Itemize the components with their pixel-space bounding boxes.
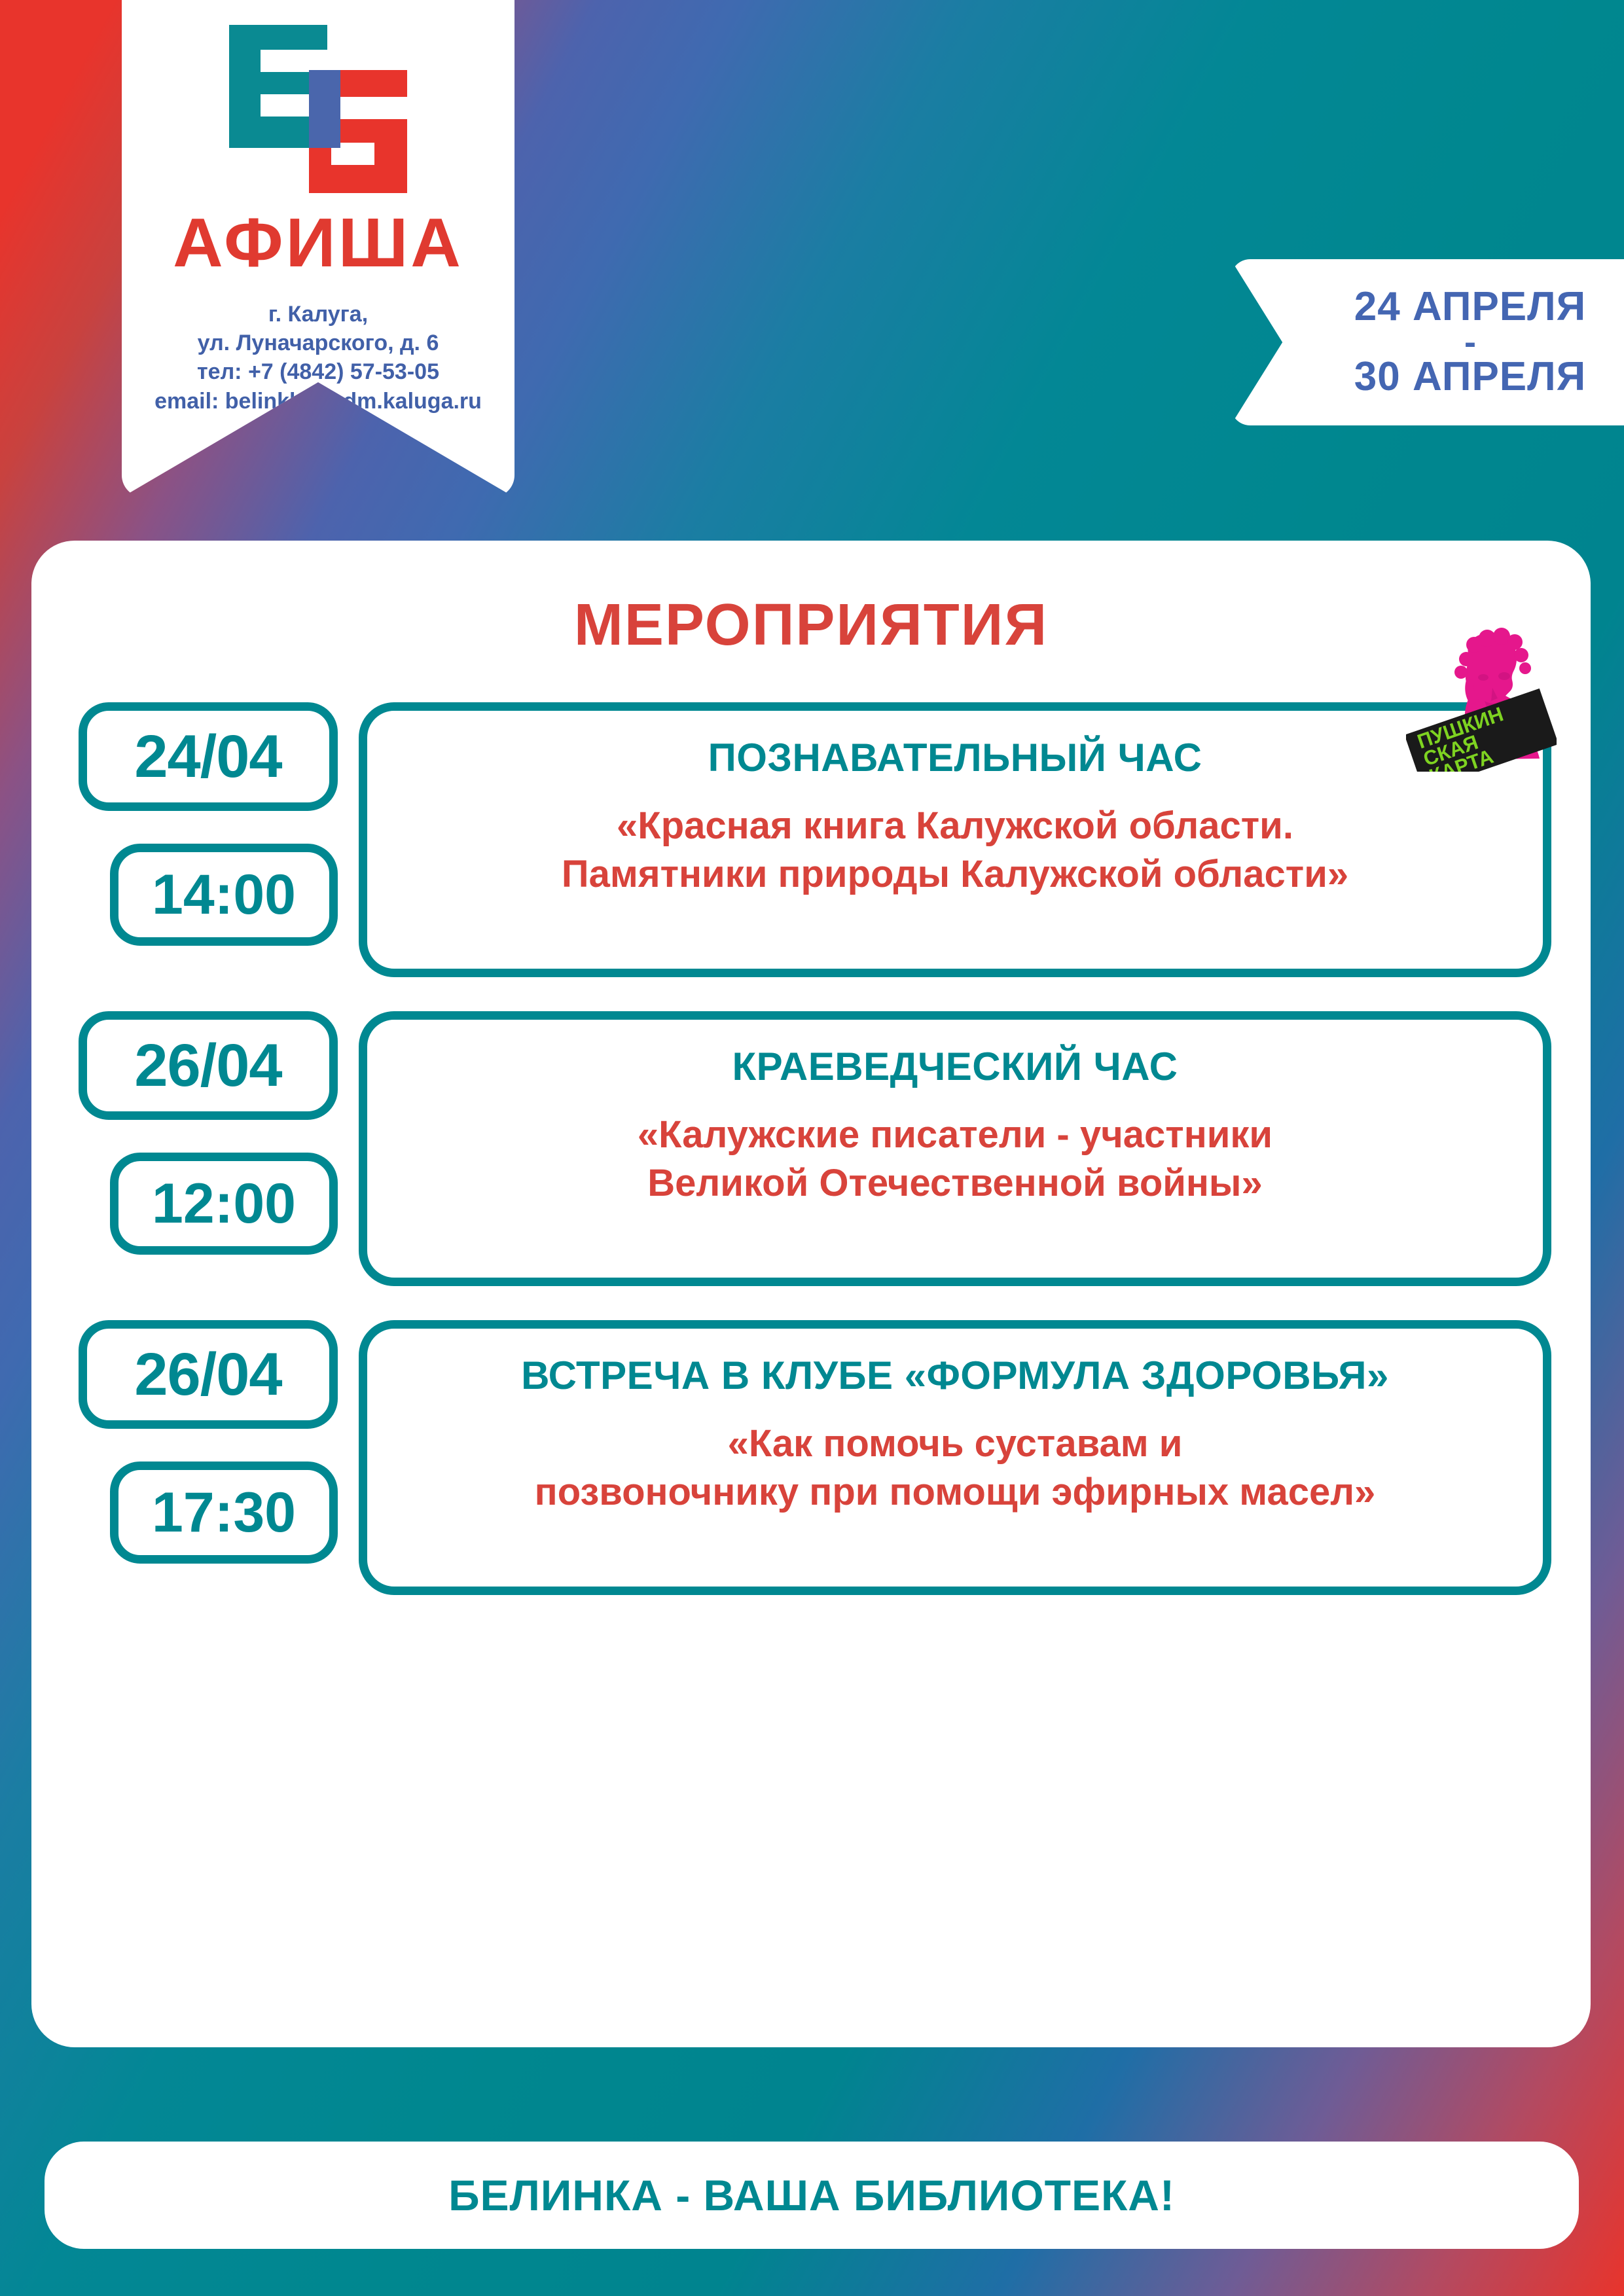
footer-slogan: БЕЛИНКА - ВАША БИБЛИОТЕКА! <box>448 2170 1175 2220</box>
event-row: 24/04 14:00 ПОЗНАВАТЕЛЬНЫЙ ЧАС «Красная … <box>79 702 1551 977</box>
logo-wordmark: АФИША <box>173 208 463 278</box>
pushkin-card-label-line3: КАРТА <box>1426 745 1496 772</box>
event-details-card: КРАЕВЕДЧЕСКИЙ ЧАС «Калужские писатели - … <box>359 1011 1551 1286</box>
event-title: ПОЗНАВАТЕЛЬНЫЙ ЧАС <box>708 736 1202 780</box>
event-subtitle-line-1: «Калужские писатели - участники <box>638 1111 1272 1159</box>
date-range-end: 30 АПРЕЛЯ <box>1354 355 1586 399</box>
library-contact-block: г. Калуга, ул. Луначарского, д. 6 тел: +… <box>154 300 482 416</box>
event-subtitle: «Красная книга Калужской области. Памятн… <box>562 802 1348 899</box>
address-street: ул. Луначарского, д. 6 <box>154 329 482 357</box>
event-subtitle-line-2: Памятники природы Калужской области» <box>562 850 1348 899</box>
event-details-card: ПОЗНАВАТЕЛЬНЫЙ ЧАС «Красная книга Калужс… <box>359 702 1551 977</box>
address-email: email: belinklg@adm.kaluga.ru <box>154 387 482 416</box>
address-phone: тел: +7 (4842) 57-53-05 <box>154 357 482 386</box>
event-title: КРАЕВЕДЧЕСКИЙ ЧАС <box>732 1045 1178 1088</box>
pushkin-card-label-line1: ПУШКИН <box>1415 702 1506 753</box>
event-row: 26/04 17:30 ВСТРЕЧА В КЛУБЕ «ФОРМУЛА ЗДО… <box>79 1320 1551 1595</box>
event-subtitle-line-2: позвоночнику при помощи эфирных масел» <box>535 1468 1376 1516</box>
library-logo-card: АФИША г. Калуга, ул. Луначарского, д. 6 … <box>122 0 514 497</box>
event-date-chip: 26/04 <box>79 1320 338 1429</box>
events-list: 24/04 14:00 ПОЗНАВАТЕЛЬНЫЙ ЧАС «Красная … <box>31 702 1591 1595</box>
poster-root: АФИША г. Калуга, ул. Луначарского, д. 6 … <box>0 0 1624 2296</box>
address-city: г. Калуга, <box>154 300 482 329</box>
page-title: МЕРОПРИЯТИЯ <box>31 592 1591 659</box>
event-when-column: 24/04 14:00 <box>79 702 340 946</box>
event-details-card: ВСТРЕЧА В КЛУБЕ «ФОРМУЛА ЗДОРОВЬЯ» «Как … <box>359 1320 1551 1595</box>
event-time-chip: 12:00 <box>110 1153 338 1255</box>
event-subtitle-line-2: Великой Отечественной войны» <box>638 1159 1272 1208</box>
event-row: 26/04 12:00 КРАЕВЕДЧЕСКИЙ ЧАС «Калужские… <box>79 1011 1551 1286</box>
footer-banner: БЕЛИНКА - ВАША БИБЛИОТЕКА! <box>45 2142 1579 2249</box>
date-range-badge: 24 АПРЕЛЯ - 30 АПРЕЛЯ <box>1231 259 1624 425</box>
date-range-dash: - <box>1464 329 1476 356</box>
event-subtitle: «Калужские писатели - участники Великой … <box>638 1111 1272 1208</box>
events-panel: МЕРОПРИЯТИЯ 24/04 14:00 ПОЗНАВАТЕЛЬНЫЙ Ч… <box>31 541 1591 2047</box>
event-time-chip: 17:30 <box>110 1462 338 1564</box>
belinka-be-monogram-icon <box>229 21 407 196</box>
event-subtitle-line-1: «Как помочь суставам и <box>535 1420 1376 1468</box>
event-when-column: 26/04 17:30 <box>79 1320 340 1564</box>
event-time-chip: 14:00 <box>110 844 338 946</box>
event-date-chip: 26/04 <box>79 1011 338 1120</box>
pushkin-card-label-line2: СКАЯ <box>1420 730 1481 770</box>
event-subtitle-line-1: «Красная книга Калужской области. <box>562 802 1348 850</box>
event-date-chip: 24/04 <box>79 702 338 811</box>
event-when-column: 26/04 12:00 <box>79 1011 340 1255</box>
event-subtitle: «Как помочь суставам и позвоночнику при … <box>535 1420 1376 1516</box>
event-title: ВСТРЕЧА В КЛУБЕ «ФОРМУЛА ЗДОРОВЬЯ» <box>521 1354 1389 1397</box>
